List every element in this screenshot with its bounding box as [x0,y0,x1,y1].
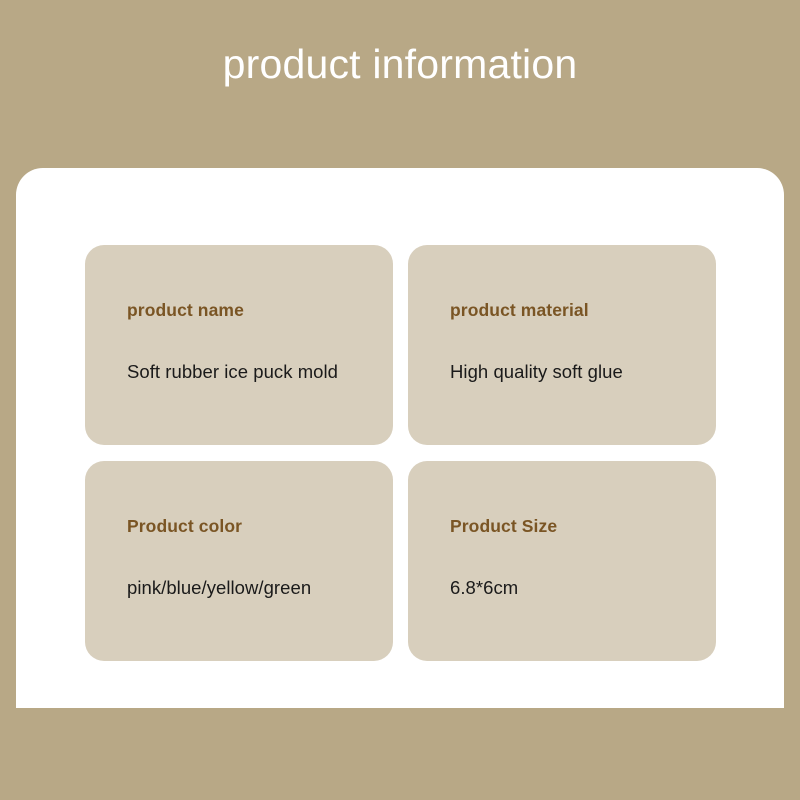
spec-label: Product color [127,515,373,537]
spec-value: Soft rubber ice puck mold [127,360,373,384]
spec-card-product-color: Product color pink/blue/yellow/green [85,461,393,661]
spec-grid: product name Soft rubber ice puck mold p… [85,245,716,661]
spec-label: product material [450,299,696,321]
page-title: product information [0,38,800,90]
spec-label: Product Size [450,515,696,537]
spec-label: product name [127,299,373,321]
spec-value: High quality soft glue [450,360,696,384]
spec-card-product-name: product name Soft rubber ice puck mold [85,245,393,445]
spec-value: pink/blue/yellow/green [127,576,373,600]
spec-card-product-material: product material High quality soft glue [408,245,716,445]
product-information-graphic: product information product name Soft ru… [0,0,800,800]
info-panel: product name Soft rubber ice puck mold p… [16,168,784,708]
spec-card-product-size: Product Size 6.8*6cm [408,461,716,661]
spec-value: 6.8*6cm [450,576,696,600]
